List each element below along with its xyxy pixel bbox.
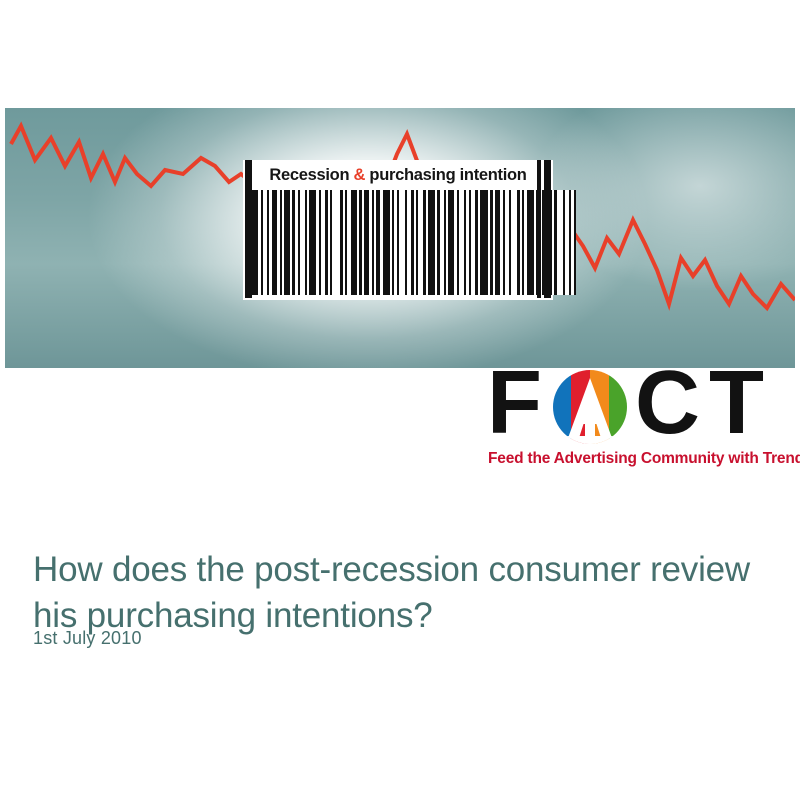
barcode-guard-bar-right-inner — [537, 160, 541, 298]
barcode-guard-bar-right — [544, 160, 551, 298]
barcode-title-suffix: purchasing intention — [365, 166, 526, 184]
barcode-bar — [574, 190, 576, 295]
barcode-bar — [251, 190, 258, 295]
barcode-bar — [527, 190, 534, 295]
page-title: How does the post-recession consumer rev… — [33, 547, 763, 639]
fact-logo: F C T — [487, 368, 787, 478]
barcode-title-ampersand: & — [354, 166, 366, 184]
logo-letter-c: C — [635, 364, 698, 442]
barcode-bar — [309, 190, 316, 295]
barcode-bars — [251, 190, 547, 295]
barcode-bar — [428, 190, 435, 295]
barcode-graphic: Recession & purchasing intention — [243, 160, 553, 300]
barcode-space — [332, 190, 340, 295]
barcode-title-prefix: Recession — [269, 166, 353, 184]
slide-date: 1st July 2010 — [33, 628, 142, 649]
logo-letter-a-circle-icon — [551, 370, 629, 444]
barcode-bar — [480, 190, 488, 295]
logo-tagline: Feed the Advertising Community with Tren… — [488, 450, 800, 468]
logo-letter-f: F — [487, 364, 540, 442]
logo-letter-t: T — [709, 364, 762, 442]
fact-logo-letters: F C T — [487, 368, 787, 446]
barcode-title: Recession & purchasing intention — [243, 166, 553, 185]
barcode-bar — [383, 190, 390, 295]
